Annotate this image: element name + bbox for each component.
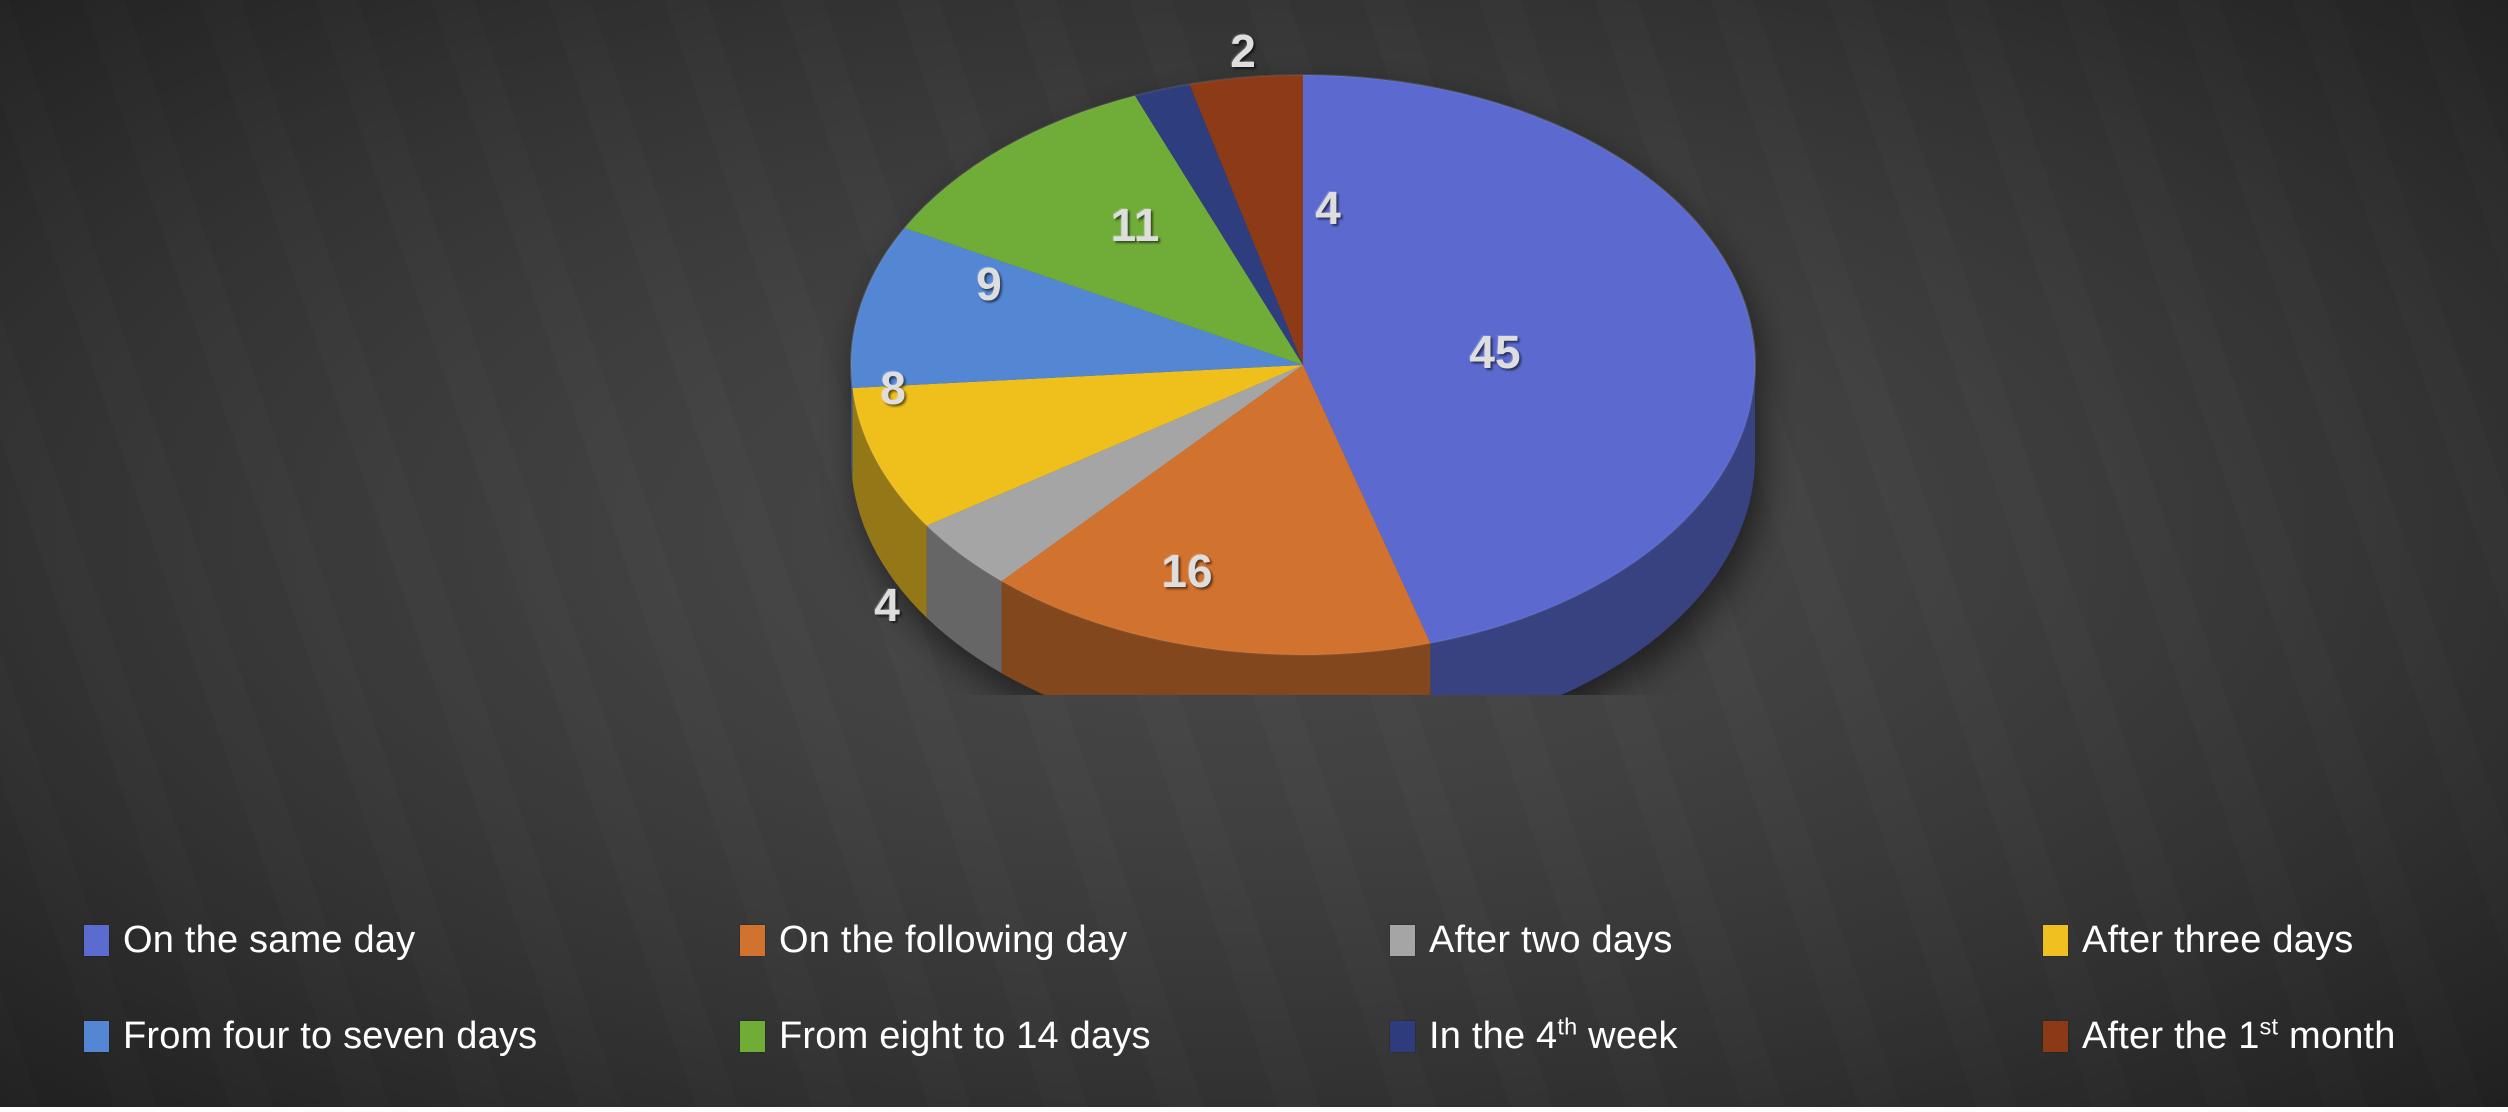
label-in-the-4th-week: 2 [1230,28,1256,74]
legend-row-1: On the same dayOn the following dayAfter… [0,905,2508,975]
label-four-to-seven-days: 9 [976,261,1002,307]
legend-item-after-two-days[interactable]: After two days [1390,905,1673,975]
chart-canvas: 45164891124 On the same dayOn the follow… [0,0,2508,1112]
legend-item-label: After two days [1429,921,1673,959]
label-on-the-following-day: 16 [1161,548,1212,594]
legend-item-after-the-1st-month[interactable]: After the 1st month [2043,1001,2396,1071]
legend-item-in-the-4th-week[interactable]: In the 4th week [1390,1001,1678,1071]
legend-ordinal-suffix: th [1557,1013,1577,1039]
label-after-three-days: 8 [880,365,906,411]
legend-item-after-three-days[interactable]: After three days [2043,905,2353,975]
legend-item-label: From eight to 14 days [779,1017,1151,1055]
legend-item-on-the-following-day[interactable]: On the following day [740,905,1127,975]
legend-item-label: In the 4th week [1429,1017,1678,1055]
label-after-two-days: 4 [874,582,900,628]
legend-ordinal-suffix: st [2260,1013,2279,1039]
legend-row-2: From four to seven daysFrom eight to 14 … [0,1001,2508,1071]
legend-swatch-icon [1390,925,1415,956]
legend-item-label: From four to seven days [123,1017,537,1055]
legend-item-four-to-seven-days[interactable]: From four to seven days [84,1001,537,1071]
label-eight-to-14-days: 11 [1111,202,1160,248]
legend-swatch-icon [84,925,109,956]
legend-item-label: On the following day [779,921,1127,959]
label-after-the-1st-month: 4 [1315,185,1341,231]
chart-legend: On the same dayOn the following dayAfter… [0,905,2508,1095]
legend-item-label: After three days [2082,921,2353,959]
legend-swatch-icon [2043,925,2068,956]
legend-swatch-icon [1390,1021,1415,1052]
legend-swatch-icon [740,1021,765,1052]
pie-chart: 45164891124 [815,35,1795,695]
legend-swatch-icon [84,1021,109,1052]
legend-swatch-icon [2043,1021,2068,1052]
bottom-edge-strip [0,1107,2508,1112]
legend-item-on-the-same-day[interactable]: On the same day [84,905,415,975]
label-on-the-same-day: 45 [1469,329,1520,375]
legend-item-label: On the same day [123,921,415,959]
legend-item-label: After the 1st month [2082,1017,2396,1055]
legend-item-eight-to-14-days[interactable]: From eight to 14 days [740,1001,1151,1071]
pie-chart-svg [815,35,1795,695]
legend-swatch-icon [740,925,765,956]
